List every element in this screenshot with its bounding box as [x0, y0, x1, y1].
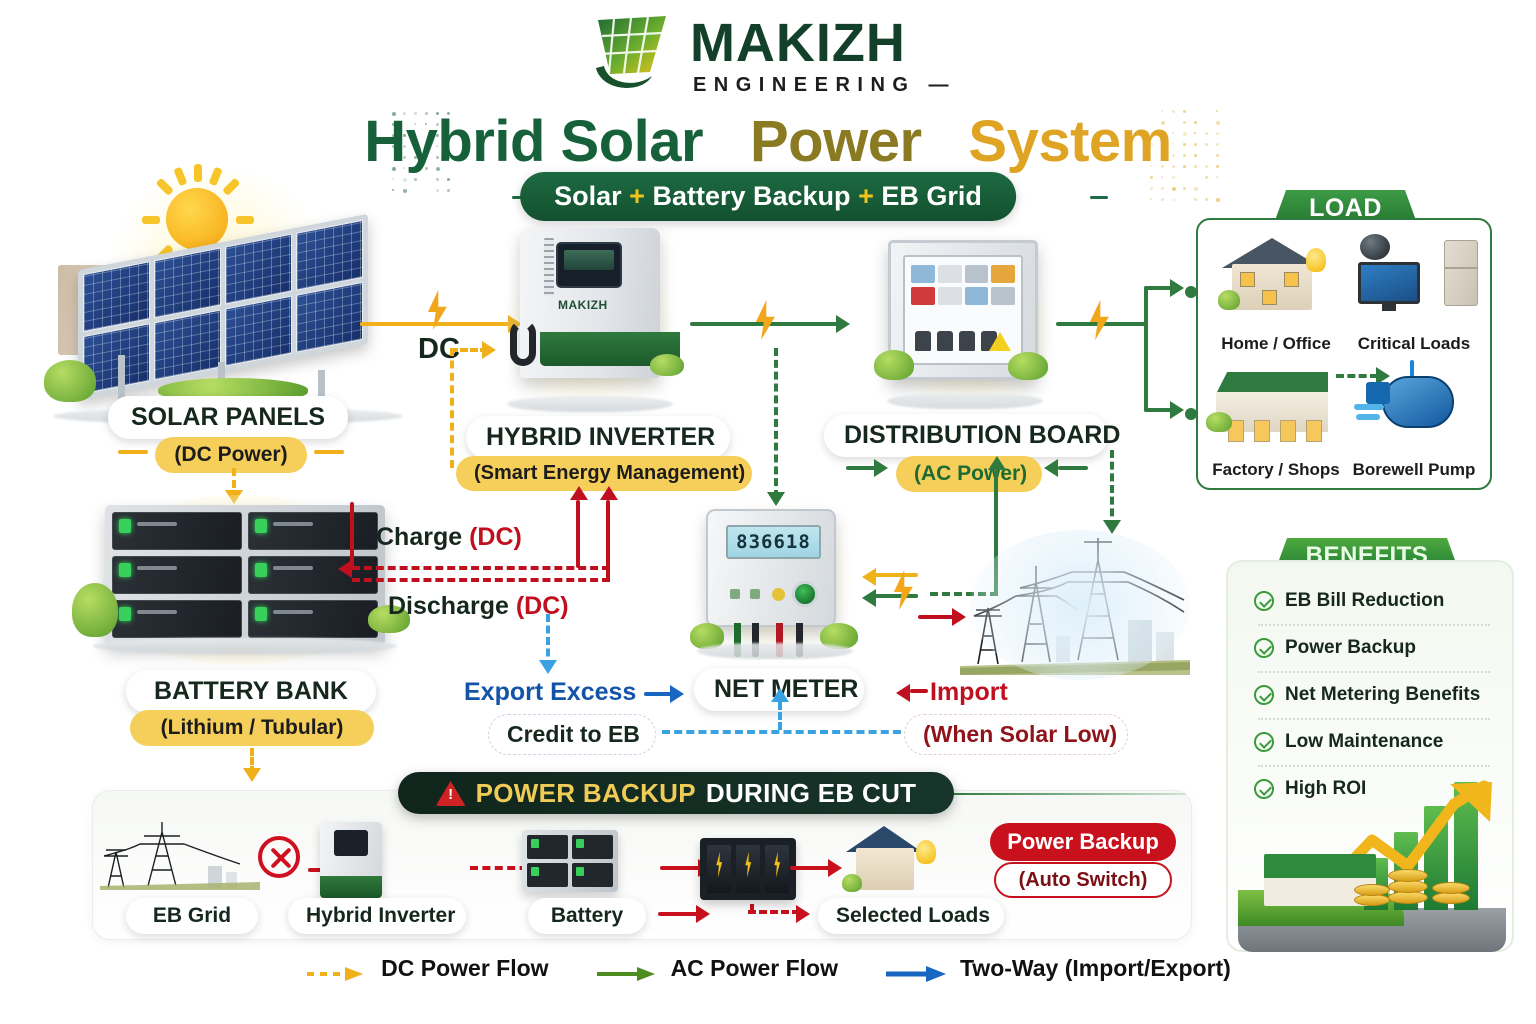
charge-arrow-up	[570, 486, 588, 500]
backup-step-label-battery: Battery	[528, 898, 646, 934]
brand-subtitle: ENGINEERING —	[690, 75, 956, 95]
load-item-critical: Critical Loads	[1344, 232, 1484, 354]
legend-item-twoway: Two-Way (Import/Export)	[884, 955, 1231, 982]
benefits-panel: EB Bill Reduction Power Backup Net Meter…	[1226, 560, 1514, 952]
discharge-unit: (DC)	[516, 592, 569, 620]
check-icon	[1254, 779, 1274, 799]
load-item-label: Critical Loads	[1344, 334, 1484, 354]
brand-header: MAKIZH ENGINEERING —	[0, 14, 1536, 96]
tag-dash-right	[314, 450, 344, 454]
charge-unit: (DC)	[469, 523, 522, 551]
check-icon	[1254, 638, 1274, 658]
power-backup-badge: Power Backup	[990, 823, 1176, 861]
makizh-logo-icon	[580, 14, 676, 96]
load-item-label: Factory / Shops	[1206, 460, 1346, 480]
bulb-icon	[916, 840, 936, 864]
subtitle-plus-2: +	[858, 181, 874, 211]
check-icon	[1254, 591, 1274, 611]
discharge-vline-right	[606, 500, 610, 580]
solar-panels-illustration	[38, 180, 418, 430]
distribution-board-illustration	[880, 240, 1050, 415]
solar-panels-tag: (DC Power)	[155, 437, 307, 473]
backup-arrow-3b	[696, 905, 710, 923]
bulb-icon	[1306, 248, 1326, 272]
check-icon	[1254, 732, 1274, 752]
load-panel: Home / Office Critical Loads Factory / S…	[1196, 218, 1492, 490]
title-part-1: Hybrid Solar	[364, 109, 703, 174]
backup-step-label-loads: Selected Loads	[818, 898, 1004, 934]
discharge-label: Discharge (DC)	[388, 592, 569, 621]
monitor-icon	[1358, 262, 1420, 304]
arrow-meter-ac-in	[862, 589, 876, 607]
backup-grid-illustration	[100, 818, 260, 890]
inverter-dc-dash-vline	[450, 348, 454, 468]
legend-item-ac: AC Power Flow	[595, 955, 838, 982]
backup-tab-highlight: POWER BACKUP	[476, 778, 696, 809]
load-split-vline	[1144, 286, 1148, 412]
credit-up-arrow	[771, 688, 789, 702]
legend-label: Two-Way (Import/Export)	[960, 955, 1231, 982]
battery-bank-tag: (Lithium / Tubular)	[130, 710, 374, 746]
line-meter-ac-in	[872, 594, 918, 598]
dashed-arrow-icon	[305, 961, 369, 977]
backup-dash-selected	[748, 910, 800, 914]
benefit-label: Power Backup	[1285, 637, 1416, 659]
solar-panels-label: SOLAR PANELS	[108, 396, 348, 439]
legend-item-dc: DC Power Flow	[305, 955, 548, 982]
subtitle-solar: Solar	[554, 181, 622, 211]
meter-display: 836618	[726, 525, 821, 559]
export-dash-arrow	[539, 660, 557, 674]
backup-arrow-3-line	[660, 866, 702, 870]
arrow-load-bottom	[1170, 401, 1184, 419]
auto-switch-badge: (Auto Switch)	[994, 862, 1172, 898]
charge-arrow	[338, 560, 352, 578]
benefit-label: Net Metering Benefits	[1285, 684, 1480, 706]
db-to-meter-arrow	[767, 492, 785, 506]
legend-label: AC Power Flow	[671, 955, 838, 982]
import-label: Import	[930, 678, 1008, 707]
legend: DC Power Flow AC Power Flow Two-Way (Imp…	[0, 955, 1536, 982]
benefit-item: Low Maintenance	[1254, 731, 1443, 753]
charge-vline-right	[576, 500, 580, 568]
backup-cells-illustration	[700, 838, 796, 900]
ac-tag-arrow-right-line	[1058, 466, 1088, 470]
subtitle-pill: Solar + Battery Backup + EB Grid	[520, 172, 1016, 221]
benefit-item: EB Bill Reduction	[1254, 590, 1444, 612]
backup-step-label-inverter: Hybrid Inverter	[288, 898, 466, 934]
subtitle-battery: Battery Backup	[652, 181, 850, 211]
ac-tag-arrow-left-line	[846, 466, 876, 470]
grid-to-db-arrow	[988, 456, 1006, 470]
export-excess-label: Export Excess	[464, 678, 636, 707]
backup-inverter-illustration	[320, 822, 382, 898]
fridge-icon	[1444, 240, 1478, 306]
import-note-chip: (When Solar Low)	[904, 714, 1128, 755]
discharge-text: Discharge	[388, 592, 509, 620]
line-meter-export	[872, 573, 918, 577]
arrow-load-top	[1170, 279, 1184, 297]
arrow-inverter-to-db	[836, 315, 850, 333]
import-arrow-line	[910, 689, 928, 693]
subtitle-plus-1: +	[629, 181, 645, 211]
backup-tab-line	[950, 793, 1186, 795]
import-arrow	[896, 684, 910, 702]
distribution-board-label: DISTRIBUTION BOARD	[824, 414, 1108, 457]
backup-dash-selected-arrow	[796, 905, 810, 923]
infographic-canvas: MAKIZH ENGINEERING — Hybrid Solar Power …	[0, 0, 1536, 1024]
pump-icon	[1382, 376, 1454, 428]
brand-name: MAKIZH	[690, 16, 956, 70]
meter-knob	[792, 581, 818, 607]
benefits-graphic	[1238, 774, 1506, 952]
db-to-meter-dash	[774, 348, 778, 498]
backup-strip-tab: POWER BACKUP DURING EB CUT	[398, 772, 954, 814]
discharge-arrow-up	[600, 486, 618, 500]
grid-down-x-icon	[258, 836, 300, 878]
warning-triangle-icon	[436, 780, 466, 806]
bolt-icon-ac-2	[1086, 300, 1112, 340]
load-item-home: Home / Office	[1206, 232, 1346, 354]
charge-vline	[350, 502, 354, 568]
camera-icon	[1360, 234, 1390, 260]
hybrid-inverter-illustration: MAKIZH	[500, 228, 680, 418]
backup-tab-rest: DURING EB CUT	[706, 778, 916, 809]
benefit-label: High ROI	[1285, 778, 1366, 800]
load-item-pump: Borewell Pump	[1344, 358, 1484, 480]
benefit-label: EB Bill Reduction	[1285, 590, 1444, 612]
bolt-icon-ac-1	[752, 300, 778, 340]
benefit-item: Net Metering Benefits	[1254, 684, 1480, 706]
discharge-dash	[352, 578, 610, 582]
db-to-grid-dash	[1110, 450, 1114, 528]
credit-to-eb-chip: Credit to EB	[488, 714, 656, 755]
title-part-2: Power	[750, 109, 922, 174]
ac-tag-arrow-left	[874, 459, 888, 477]
load-item-label: Borewell Pump	[1344, 460, 1484, 480]
battery-to-backup-arrow	[243, 768, 261, 782]
load-item-factory: Factory / Shops	[1206, 358, 1346, 480]
backup-house-illustration	[838, 826, 930, 892]
net-meter-illustration: 836618	[690, 505, 860, 665]
distribution-board-tag: (AC Power)	[896, 456, 1042, 492]
solid-arrow-icon	[595, 961, 659, 977]
inverter-dc-dash-arrow	[482, 341, 496, 359]
title-part-3: System	[968, 109, 1171, 174]
hybrid-inverter-label: HYBRID INVERTER	[466, 416, 730, 459]
eb-grid-illustration	[960, 520, 1190, 680]
credit-up-dash	[778, 702, 782, 730]
check-icon	[1254, 685, 1274, 705]
subtitle-tick-right	[1090, 196, 1108, 199]
ac-tag-arrow-right	[1044, 459, 1058, 477]
inverter-brand-label: MAKIZH	[558, 298, 608, 312]
backup-step-label-grid: EB Grid	[126, 898, 258, 934]
pump-feed-dash	[1336, 374, 1378, 378]
arrow-meter-export	[862, 568, 876, 586]
benefit-item: Power Backup	[1254, 637, 1416, 659]
subtitle-grid: EB Grid	[881, 181, 982, 211]
backup-battery-illustration	[522, 830, 618, 892]
load-item-label: Home / Office	[1206, 334, 1346, 354]
backup-arrow-3b-line	[658, 912, 700, 916]
tag-dash-left	[118, 450, 148, 454]
benefit-item: High ROI	[1254, 778, 1366, 800]
battery-bank-label: BATTERY BANK	[126, 670, 376, 713]
blue-arrow-icon	[884, 961, 948, 977]
benefit-label: Low Maintenance	[1285, 731, 1443, 753]
backup-arrow-4-line	[790, 866, 832, 870]
charge-label: Charge (DC)	[376, 523, 522, 552]
export-arrow	[670, 685, 684, 703]
charge-dash	[352, 566, 610, 570]
legend-label: DC Power Flow	[381, 955, 548, 982]
charge-text: Charge	[376, 523, 462, 551]
